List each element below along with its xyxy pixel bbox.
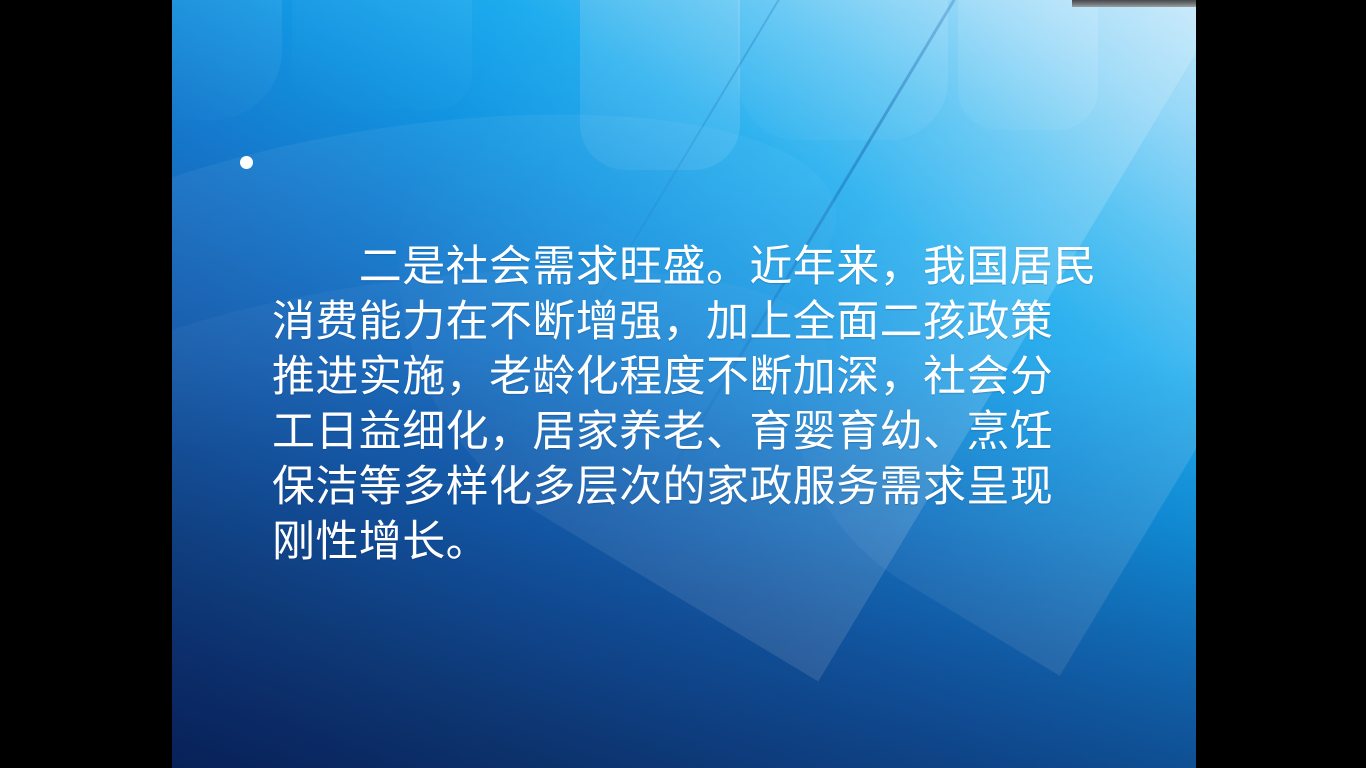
decorative-panel-left-corner (172, 0, 282, 120)
decorative-panel-left (292, 0, 472, 110)
letterbox-right (1196, 0, 1366, 768)
body-paragraph-text: 二是社会需求旺盛。近年来，我国居民消费能力在不断增强，加上全面二孩政策推进实施，… (272, 130, 1162, 680)
letterbox-left (0, 0, 172, 768)
text-line: 推进实施，老龄化程度不断加深，社会分 (272, 350, 1162, 405)
screen: 二是社会需求旺盛。近年来，我国居民消费能力在不断增强，加上全面二孩政策推进实施，… (0, 0, 1366, 768)
bullet-paragraph: 二是社会需求旺盛。近年来，我国居民消费能力在不断增强，加上全面二孩政策推进实施，… (272, 130, 1162, 680)
text-line: 消费能力在不断增强，加上全面二孩政策 (272, 295, 1162, 350)
decorative-panel-c (958, 0, 1098, 130)
slide-body-placeholder[interactable]: 二是社会需求旺盛。近年来，我国居民消费能力在不断增强，加上全面二孩政策推进实施，… (272, 130, 1162, 680)
window-chrome-fragment (1072, 0, 1196, 7)
text-line: 保洁等多样化多层次的家政服务需求呈现 (272, 460, 1162, 515)
presentation-slide[interactable]: 二是社会需求旺盛。近年来，我国居民消费能力在不断增强，加上全面二孩政策推进实施，… (172, 0, 1196, 768)
text-line: 刚性增长。 (272, 515, 1162, 570)
bullet-point-icon (240, 156, 253, 169)
text-line: 二是社会需求旺盛。近年来，我国居民 (272, 240, 1162, 295)
text-line: 工日益细化，居家养老、育婴育幼、烹饪 (272, 405, 1162, 460)
decorative-panel-b (738, 0, 948, 140)
